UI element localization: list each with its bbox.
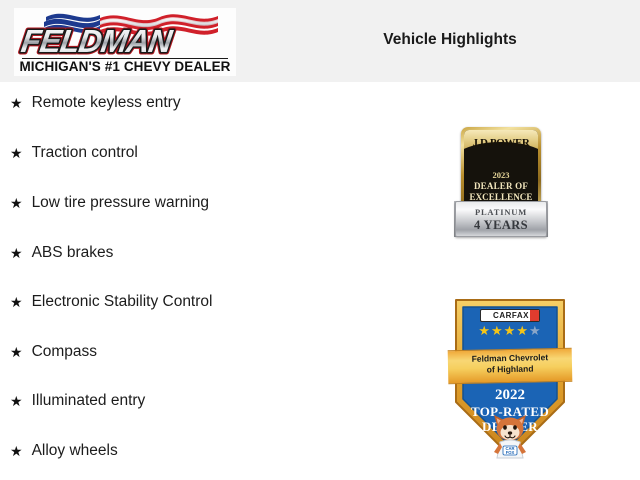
jd-power-award-line1: DEALER OF	[464, 181, 538, 191]
feature-label: Alloy wheels	[32, 442, 118, 460]
carfax-logo: CARFAX	[480, 309, 540, 322]
list-item: ★ Traction control	[10, 142, 138, 164]
list-item: ★ ABS brakes	[10, 242, 113, 264]
feature-label: Electronic Stability Control	[32, 293, 213, 311]
carfax-dealer-name: Feldman Chevrolet of Highland	[448, 352, 572, 376]
jd-power-duration-label: 4 YEARS	[455, 218, 547, 233]
jd-power-badge[interactable]: J.D.POWER 2023 DEALER OF EXCELLENCE PLAT…	[455, 127, 547, 237]
star-icon: ★	[504, 323, 517, 338]
star-bullet-icon: ★	[10, 444, 23, 458]
feature-label: Remote keyless entry	[32, 94, 181, 112]
star-bullet-icon: ★	[10, 246, 23, 260]
star-icon: ★	[491, 323, 504, 338]
jd-power-inner-face: J.D.POWER 2023 DEALER OF EXCELLENCE	[464, 130, 538, 212]
list-item: ★ Low tire pressure warning	[10, 192, 209, 214]
star-bullet-icon: ★	[10, 196, 23, 210]
list-item: ★ Remote keyless entry	[10, 92, 181, 114]
feature-label: Compass	[32, 343, 97, 361]
list-item: ★ Electronic Stability Control	[10, 291, 212, 313]
carfax-logo-text: CARFAX	[481, 311, 540, 320]
carfax-star-rating: ★★★★★	[450, 324, 570, 337]
jd-power-year: 2023	[464, 170, 538, 180]
feature-label: Traction control	[32, 144, 138, 162]
star-bullet-icon: ★	[10, 394, 23, 408]
list-item: ★ Illuminated entry	[10, 390, 145, 412]
jd-power-wordmark: J.D.POWER	[464, 137, 538, 149]
star-half-icon: ★	[529, 323, 542, 338]
page-header: FELDMAN FELDMAN FELDMAN MICHIGAN'S #1 CH…	[0, 0, 640, 82]
svg-text:FOX: FOX	[506, 450, 515, 455]
feature-label: ABS brakes	[32, 244, 114, 262]
feldman-wordmark: FELDMAN FELDMAN FELDMAN	[14, 24, 236, 58]
feldman-dealer-logo[interactable]: FELDMAN FELDMAN FELDMAN MICHIGAN'S #1 CH…	[14, 8, 236, 76]
star-bullet-icon: ★	[10, 96, 23, 110]
feature-label: Low tire pressure warning	[32, 194, 209, 212]
star-bullet-icon: ★	[10, 295, 23, 309]
carfax-award-year: 2022	[450, 387, 570, 404]
star-bullet-icon: ★	[10, 345, 23, 359]
page-title: Vehicle Highlights	[300, 31, 600, 49]
star-icon: ★	[516, 323, 529, 338]
svg-text:FELDMAN: FELDMAN	[19, 24, 175, 58]
star-icon: ★	[478, 323, 491, 338]
car-fox-mascot-icon: CAR FOX	[488, 412, 532, 460]
logo-tagline: MICHIGAN'S #1 CHEVY DEALER	[14, 59, 236, 74]
jd-power-tier-label: PLATINUM	[455, 207, 547, 217]
list-item: ★ Alloy wheels	[10, 440, 118, 462]
feature-label: Illuminated entry	[32, 392, 146, 410]
list-item: ★ Compass	[10, 341, 97, 363]
carfax-badge[interactable]: CARFAX ★★★★★ Feldman Chevrolet of Highla…	[450, 294, 570, 462]
star-bullet-icon: ★	[10, 146, 23, 160]
